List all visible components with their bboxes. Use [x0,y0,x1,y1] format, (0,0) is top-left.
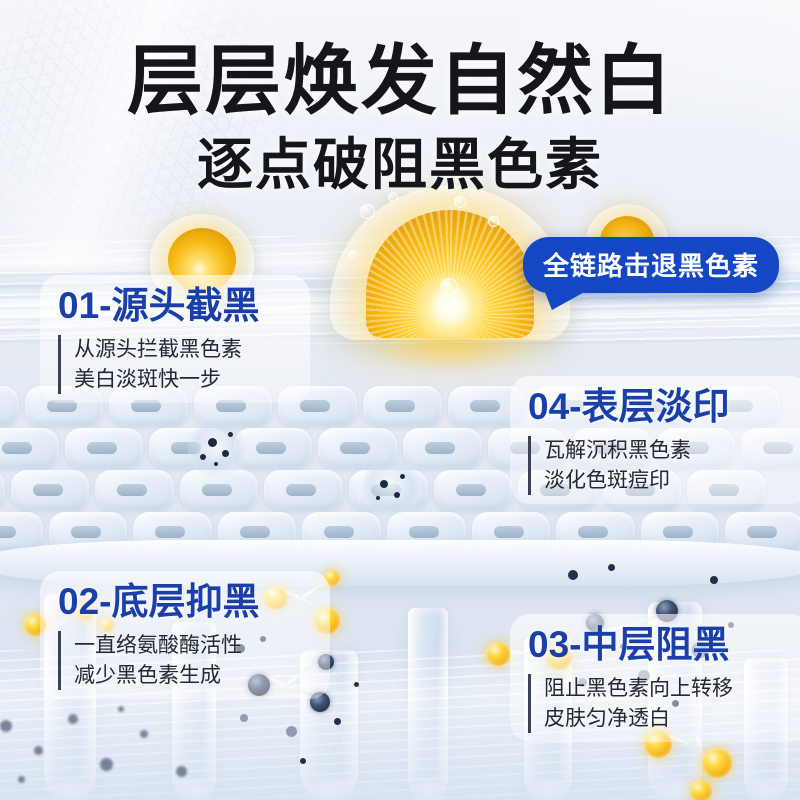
status-badge: 全链路击退黑色素 [523,237,779,293]
cell-capsule [0,428,59,468]
feature-line: 淡化色斑痘印 [544,466,729,496]
feature-line: 阻止黑色素向上转移 [544,674,733,704]
cell-capsule [95,470,174,510]
feature-block-02: 02-底层抑黑 一直络氨酸酶活性 减少黑色素生成 [58,583,259,690]
melanin-cluster [188,420,248,480]
feature-title-03: 03-中层阻黑 [528,626,733,665]
bubble-icon [360,204,375,219]
hero-dome-reflection [374,338,526,372]
cell-capsule [302,512,381,552]
feature-title-01: 01-源头截黑 [58,287,259,326]
cell-capsule [149,428,228,468]
cell-capsule [403,428,482,468]
cell-row [0,512,800,552]
poster-canvas: 层层焕发自然白 逐点破阻黑色素 全链路击退黑色素 01-源头截黑 从源头拦截黑色… [0,0,800,800]
feature-title-02: 02-底层抑黑 [58,583,259,622]
bubble-icon [488,216,499,227]
cell-capsule [472,512,551,552]
feature-line: 皮肤匀净透白 [544,704,733,734]
cell-capsule [218,512,297,552]
feature-block-04: 04-表层淡印 瓦解沉积黑色素 淡化色斑痘印 [528,388,729,495]
feature-line: 瓦解沉积黑色素 [544,436,729,466]
cell-capsule [0,512,43,552]
bubble-icon [454,196,466,208]
hero-dome-flare [416,272,484,340]
glass-pillar [408,608,448,800]
feature-description-02: 一直络氨酸酶活性 减少黑色素生成 [58,631,259,691]
cell-capsule [556,512,635,552]
cell-capsule [65,428,144,468]
feature-title-04: 04-表层淡印 [528,388,729,427]
cell-capsule [0,386,19,426]
cell-capsule [725,512,800,552]
feature-line: 一直络氨酸酶活性 [74,631,259,661]
feature-description-01: 从源头拦截黑色素 美白淡斑快一步 [58,335,259,395]
cell-capsule [11,470,90,510]
feature-description-04: 瓦解沉积黑色素 淡化色斑痘印 [528,436,729,496]
cell-capsule [434,470,513,510]
melanin-particle-field [0,700,220,800]
badge-pointer-icon [542,290,588,310]
page-title: 层层焕发自然白 [0,44,800,120]
cell-capsule [234,428,313,468]
page-subtitle: 逐点破阻黑色素 [0,137,800,193]
bubble-icon [348,250,357,259]
feature-block-01: 01-源头截黑 从源头拦截黑色素 美白淡斑快一步 [58,287,259,394]
bubble-icon [440,278,458,296]
cell-capsule [318,428,397,468]
feature-description-03: 阻止黑色素向上转移 皮肤匀净透白 [528,674,733,734]
melanin-cluster [362,458,422,518]
hero-dome-rays [366,210,534,338]
cell-capsule [349,470,428,510]
feature-line: 从源头拦截黑色素 [74,335,259,365]
cell-capsule [264,470,343,510]
cell-capsule [180,470,259,510]
cell-capsule [363,386,442,426]
cell-capsule [133,512,212,552]
feature-block-03: 03-中层阻黑 阻止黑色素向上转移 皮肤匀净透白 [528,626,733,733]
feature-line: 减少黑色素生成 [74,661,259,691]
feature-line: 美白淡斑快一步 [74,365,259,395]
cell-capsule [49,512,128,552]
cell-capsule [0,470,5,510]
cell-capsule [641,512,720,552]
hero-dome-core [366,210,534,338]
cell-capsule [387,512,466,552]
status-badge-label: 全链路击退黑色素 [543,251,759,281]
